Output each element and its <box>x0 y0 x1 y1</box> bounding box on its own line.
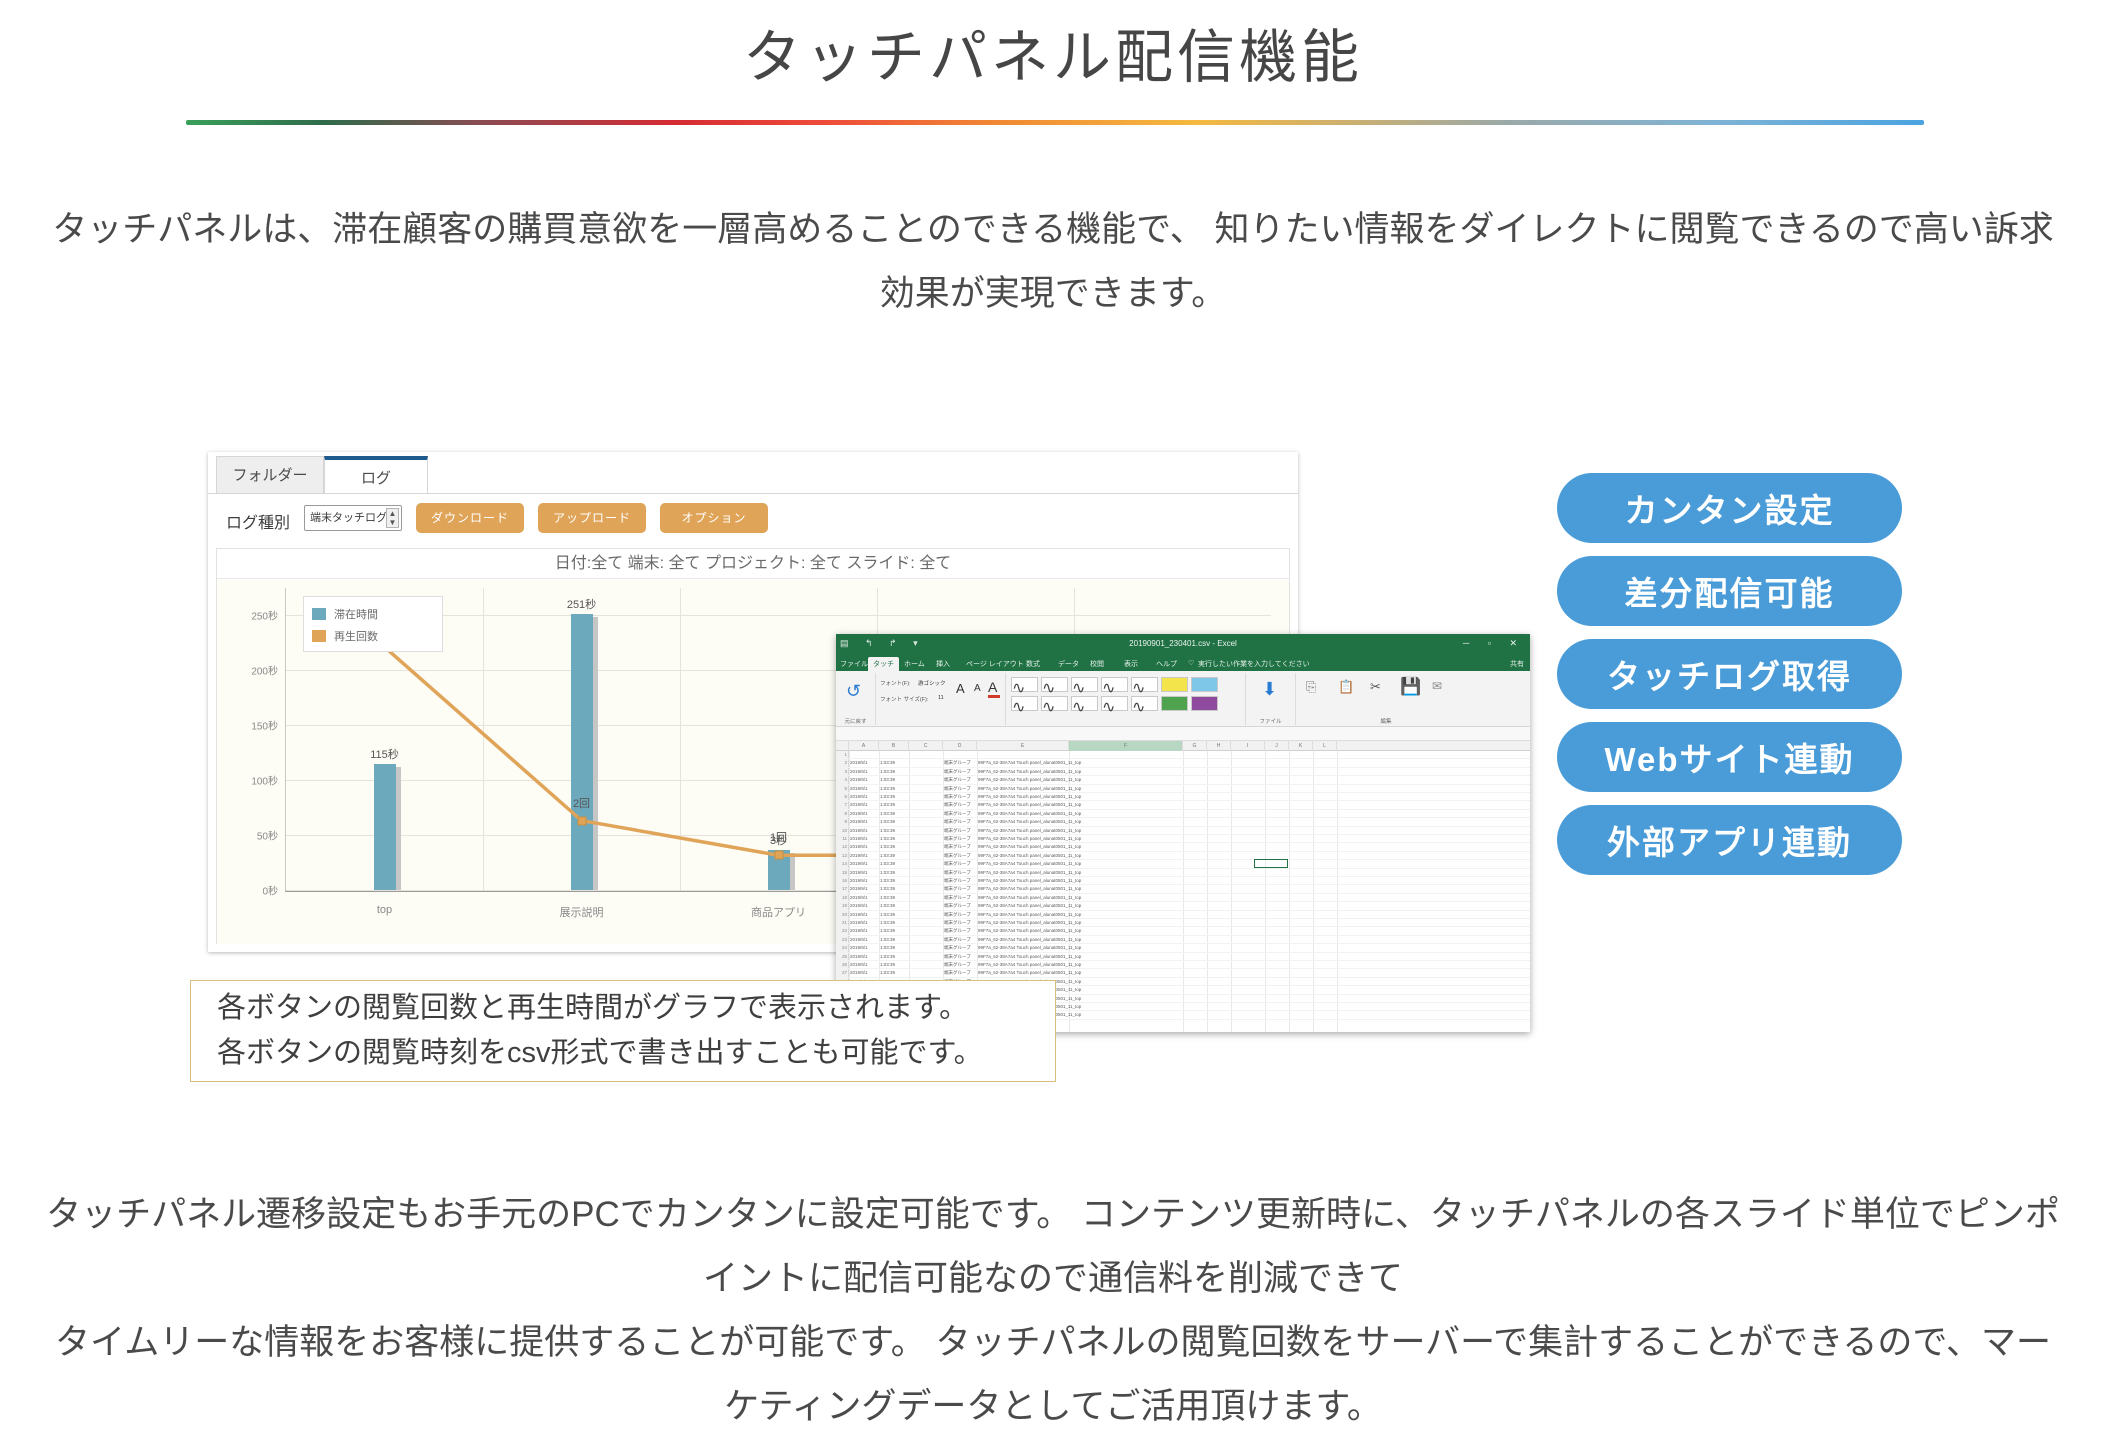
excel-cell[interactable]: 1:03:39 <box>880 793 910 800</box>
excel-cell[interactable]: 99F7a_62-38A7a4 Touch panel_alunat0501_1 <box>978 936 1070 943</box>
style-swatch-blue[interactable] <box>1191 677 1218 692</box>
excel-cell[interactable]: 1:03:39 <box>880 869 910 876</box>
excel-cell[interactable]: 1_top <box>1070 927 1184 934</box>
excel-cell[interactable] <box>910 810 944 817</box>
excel-cell[interactable]: 99F7a_62-38A7a4 Touch panel_alunat0501_1 <box>978 969 1070 976</box>
excel-cell[interactable]: 1_top <box>1070 785 1184 792</box>
excel-cell[interactable] <box>910 969 944 976</box>
email-icon[interactable]: ✉ <box>1432 679 1442 693</box>
stepper-icon[interactable]: ▲▼ <box>386 508 399 528</box>
excel-cell[interactable]: 99F7a_62-38A7a4 Touch panel_alunat0501_1 <box>978 869 1070 876</box>
excel-cell[interactable]: 2019/9/1 <box>850 835 880 842</box>
excel-cell[interactable]: 99F7a_62-38A7a4 Touch panel_alunat0501_1 <box>978 911 1070 918</box>
excel-row[interactable]: 1 <box>836 751 1530 759</box>
excel-column-header-H[interactable]: H <box>1207 741 1231 751</box>
copy-icon[interactable]: ⎘ <box>1306 679 1316 695</box>
excel-cell[interactable]: 端末グループ <box>944 877 978 884</box>
excel-cell[interactable]: 1:03:39 <box>880 810 910 817</box>
excel-tab-touch[interactable]: タッチ <box>868 657 899 671</box>
excel-window-controls[interactable]: ─ ▫ ✕ <box>1463 638 1525 649</box>
bottom-paragraph-1: タッチパネル遷移設定もお手元のPCでカンタンに設定可能です。 コンテンツ更新時に… <box>40 1183 2066 1311</box>
excel-cell[interactable]: 2019/9/1 <box>850 768 880 775</box>
excel-row-header[interactable]: 23 <box>836 936 849 943</box>
excel-cell[interactable]: 1_top <box>1070 986 1184 993</box>
ribbon-group-styles: ∿ ∿ ∿ ∿ ∿ ∿ ∿ ∿ ∿ ∿ <box>1006 673 1246 725</box>
excel-cell[interactable] <box>910 776 944 783</box>
excel-column-header-A[interactable]: A <box>849 741 879 751</box>
excel-cell[interactable] <box>910 902 944 909</box>
feature-pill-easy-setup[interactable]: カンタン設定 <box>1557 473 1902 543</box>
excel-row-header[interactable]: 8 <box>836 810 849 817</box>
excel-cell[interactable]: 2019/9/1 <box>850 902 880 909</box>
style-swatch-8[interactable]: ∿ <box>1011 696 1038 711</box>
download-arrow-icon[interactable]: ⬇ <box>1262 679 1277 700</box>
excel-cell[interactable]: 99F7a_62-38A7a4 Touch panel_alunat0501_1 <box>978 768 1070 775</box>
excel-cell[interactable]: 1:03:39 <box>880 827 910 834</box>
excel-cell[interactable] <box>910 894 944 901</box>
excel-row-header[interactable]: 26 <box>836 961 849 968</box>
excel-cell[interactable]: 端末グループ <box>944 827 978 834</box>
excel-cell[interactable]: 1_top <box>1070 894 1184 901</box>
excel-column-header-F[interactable]: F <box>1069 741 1183 751</box>
excel-cell[interactable]: 1:03:39 <box>880 894 910 901</box>
excel-row-header[interactable]: 1 <box>836 751 849 758</box>
excel-cell[interactable] <box>910 860 944 867</box>
excel-cell[interactable]: 1:03:39 <box>880 835 910 842</box>
download-button[interactable]: ダウンロード <box>416 503 524 533</box>
excel-cell[interactable]: 1_top <box>1070 953 1184 960</box>
excel-cell[interactable] <box>910 835 944 842</box>
excel-row-header[interactable]: 19 <box>836 902 849 909</box>
excel-cell[interactable]: 1_top <box>1070 801 1184 808</box>
excel-row[interactable]: 202019/9/11:03:39端末グループ99F7a_62-38A7a4 T… <box>836 911 1530 919</box>
excel-cell[interactable]: 99F7a_62-38A7a4 Touch panel_alunat0501_1 <box>978 894 1070 901</box>
excel-row-header[interactable]: 24 <box>836 944 849 951</box>
ribbon-group-undo-label: 元に戻す <box>836 717 875 725</box>
excel-column-header-D[interactable]: D <box>943 741 977 751</box>
excel-row[interactable]: 192019/9/11:03:39端末グループ99F7a_62-38A7a4 T… <box>836 902 1530 910</box>
excel-row-header[interactable]: 16 <box>836 877 849 884</box>
excel-row[interactable]: 72019/9/11:03:39端末グループ99F7a_62-38A7a4 To… <box>836 801 1530 809</box>
excel-cell[interactable]: 端末グループ <box>944 852 978 859</box>
excel-cell[interactable]: 端末グループ <box>944 927 978 934</box>
excel-cell[interactable]: 1_top <box>1070 843 1184 850</box>
excel-row[interactable]: 92019/9/11:03:39端末グループ99F7a_62-38A7a4 To… <box>836 818 1530 826</box>
feature-pill-touch-log[interactable]: タッチログ取得 <box>1557 639 1902 709</box>
excel-row[interactable]: 232019/9/11:03:39端末グループ99F7a_62-38A7a4 T… <box>836 936 1530 944</box>
excel-cell[interactable]: 2019/9/1 <box>850 911 880 918</box>
undo-icon[interactable]: ↺ <box>846 681 861 702</box>
log-type-select[interactable]: 端末タッチログ ▲▼ <box>304 505 402 531</box>
excel-cell[interactable]: 1:03:39 <box>880 927 910 934</box>
style-swatch-9[interactable]: ∿ <box>1041 696 1068 711</box>
excel-cell[interactable]: 1_top <box>1070 827 1184 834</box>
excel-cell[interactable]: 1_top <box>1070 885 1184 892</box>
excel-column-header-K[interactable]: K <box>1289 741 1313 751</box>
excel-row-header[interactable]: 5 <box>836 785 849 792</box>
excel-cell[interactable]: 2019/9/1 <box>850 944 880 951</box>
excel-cell[interactable]: 2019/9/1 <box>850 801 880 808</box>
style-swatch-green[interactable] <box>1161 696 1188 711</box>
excel-cell[interactable]: 1_top <box>1070 969 1184 976</box>
style-swatch-5[interactable]: ∿ <box>1131 677 1158 692</box>
style-swatch-1[interactable]: ∿ <box>1011 677 1038 692</box>
excel-cell[interactable]: 1_top <box>1070 995 1184 1002</box>
excel-share-button[interactable]: 共有 <box>1510 659 1524 669</box>
ribbon-group-font: フォント(F): 游ゴシック フォント サイズ(F): 11 A A A <box>876 673 1006 725</box>
font-size-label: フォント サイズ(F): <box>880 695 928 703</box>
lead-paragraph: タッチパネルは、滞在顧客の購買意欲を一層高めることのできる機能で、 知りたい情報… <box>40 198 2066 326</box>
excel-cell[interactable]: 1_top <box>1070 877 1184 884</box>
excel-cell[interactable]: 99F7a_62-38A7a4 Touch panel_alunat0501_1 <box>978 818 1070 825</box>
excel-cell[interactable] <box>910 869 944 876</box>
chart-y-tick: 250秒 <box>251 608 278 623</box>
excel-cell[interactable]: 1:03:39 <box>880 768 910 775</box>
style-swatch-2[interactable]: ∿ <box>1041 677 1068 692</box>
excel-cell[interactable]: 端末グループ <box>944 759 978 766</box>
excel-tab-formulas[interactable]: 数式 <box>1026 659 1040 669</box>
excel-cell[interactable]: 99F7a_62-38A7a4 Touch panel_alunat0501_1 <box>978 801 1070 808</box>
excel-cell[interactable] <box>910 927 944 934</box>
page-title: タッチパネル配信機能 <box>0 10 2106 94</box>
style-swatch-12[interactable]: ∿ <box>1131 696 1158 711</box>
excel-cell[interactable] <box>910 768 944 775</box>
excel-row-header[interactable]: 22 <box>836 927 849 934</box>
chart-y-tick: 150秒 <box>251 718 278 733</box>
excel-cell[interactable]: 端末グループ <box>944 793 978 800</box>
excel-cell[interactable]: 1:03:39 <box>880 936 910 943</box>
excel-cell[interactable]: 2019/9/1 <box>850 953 880 960</box>
excel-cell[interactable]: 端末グループ <box>944 818 978 825</box>
excel-cell[interactable]: 1_top <box>1070 793 1184 800</box>
excel-row-header[interactable]: 18 <box>836 894 849 901</box>
excel-formula-bar[interactable] <box>836 727 1530 741</box>
excel-row[interactable]: 122019/9/11:03:39端末グループ99F7a_62-38A7a4 T… <box>836 843 1530 851</box>
excel-cell[interactable]: 2019/9/1 <box>850 936 880 943</box>
excel-row-header[interactable]: 3 <box>836 768 849 775</box>
excel-row[interactable]: 52019/9/11:03:39端末グループ99F7a_62-38A7a4 To… <box>836 785 1530 793</box>
excel-row[interactable]: 132019/9/11:03:39端末グループ99F7a_62-38A7a4 T… <box>836 852 1530 860</box>
excel-tab-review[interactable]: 校閲 <box>1090 659 1104 669</box>
style-swatch-4[interactable]: ∿ <box>1101 677 1128 692</box>
excel-cell[interactable]: 1:03:39 <box>880 969 910 976</box>
excel-cell[interactable] <box>910 911 944 918</box>
excel-row-header[interactable]: 2 <box>836 759 849 766</box>
excel-tab-view[interactable]: 表示 <box>1124 659 1138 669</box>
excel-cell[interactable]: 1_top <box>1070 1011 1184 1018</box>
excel-cell[interactable]: 1:03:39 <box>880 852 910 859</box>
log-type-select-value: 端末タッチログ <box>310 512 387 524</box>
excel-cell[interactable]: 2019/9/1 <box>850 793 880 800</box>
excel-cell[interactable] <box>910 885 944 892</box>
excel-cell[interactable]: 2019/9/1 <box>850 919 880 926</box>
excel-cell[interactable] <box>910 852 944 859</box>
excel-cell[interactable]: 端末グループ <box>944 801 978 808</box>
excel-cell[interactable]: 端末グループ <box>944 953 978 960</box>
excel-cell[interactable]: 2019/9/1 <box>850 894 880 901</box>
excel-cell[interactable]: 端末グループ <box>944 944 978 951</box>
excel-cell[interactable]: 99F7a_62-38A7a4 Touch panel_alunat0501_1 <box>978 810 1070 817</box>
excel-tab-data[interactable]: データ <box>1058 659 1079 669</box>
app-toolbar: ログ種別 端末タッチログ ▲▼ ダウンロード アップロード オプション <box>208 495 1298 545</box>
excel-cell[interactable]: 99F7a_62-38A7a4 Touch panel_alunat0501_1 <box>978 827 1070 834</box>
excel-cell[interactable]: 2019/9/1 <box>850 785 880 792</box>
excel-row-header[interactable]: 4 <box>836 776 849 783</box>
excel-cell[interactable]: 2019/9/1 <box>850 860 880 867</box>
excel-cell[interactable]: 2019/9/1 <box>850 969 880 976</box>
excel-cell[interactable]: 99F7a_62-38A7a4 Touch panel_alunat0501_1 <box>978 860 1070 867</box>
excel-row[interactable]: 32019/9/11:03:39端末グループ99F7a_62-38A7a4 To… <box>836 768 1530 776</box>
excel-cell[interactable]: 1_top <box>1070 776 1184 783</box>
excel-cell[interactable]: 端末グループ <box>944 894 978 901</box>
excel-cell[interactable] <box>910 785 944 792</box>
excel-cell[interactable]: 端末グループ <box>944 969 978 976</box>
excel-cell[interactable]: 1:03:39 <box>880 843 910 850</box>
excel-row[interactable]: 142019/9/11:03:39端末グループ99F7a_62-38A7a4 T… <box>836 860 1530 868</box>
excel-tell-me[interactable]: 実行したい作業を入力してください <box>1198 659 1310 669</box>
excel-cell[interactable]: 1_top <box>1070 978 1184 985</box>
excel-cell[interactable]: 1:03:39 <box>880 818 910 825</box>
excel-cell[interactable]: 1:03:39 <box>880 801 910 808</box>
excel-cell[interactable]: 99F7a_62-38A7a4 Touch panel_alunat0501_1 <box>978 793 1070 800</box>
cut-icon[interactable]: ✂ <box>1370 679 1381 695</box>
excel-cell[interactable]: 1_top <box>1070 944 1184 951</box>
excel-corner-cell[interactable] <box>836 741 849 751</box>
excel-cell[interactable]: 2019/9/1 <box>850 961 880 968</box>
excel-row-header[interactable]: 27 <box>836 969 849 976</box>
excel-cell[interactable]: 99F7a_62-38A7a4 Touch panel_alunat0501_1 <box>978 902 1070 909</box>
excel-tab-page-layout[interactable]: ページ レイアウト <box>966 659 1024 669</box>
excel-cell[interactable]: 99F7a_62-38A7a4 Touch panel_alunat0501_1 <box>978 944 1070 951</box>
excel-cell[interactable] <box>910 936 944 943</box>
excel-cell[interactable]: 2019/9/1 <box>850 877 880 884</box>
excel-cell[interactable]: 99F7a_62-38A7a4 Touch panel_alunat0501_1 <box>978 919 1070 926</box>
excel-column-header-I[interactable]: I <box>1231 741 1265 751</box>
excel-row[interactable]: 112019/9/11:03:39端末グループ99F7a_62-38A7a4 T… <box>836 835 1530 843</box>
excel-cell[interactable]: 端末グループ <box>944 869 978 876</box>
excel-row-header[interactable]: 11 <box>836 835 849 842</box>
excel-cell[interactable]: 1_top <box>1070 919 1184 926</box>
excel-cell[interactable]: 99F7a_62-38A7a4 Touch panel_alunat0501_1 <box>978 927 1070 934</box>
excel-row[interactable]: 102019/9/11:03:39端末グループ99F7a_62-38A7a4 T… <box>836 827 1530 835</box>
excel-cell[interactable]: 端末グループ <box>944 885 978 892</box>
ribbon-group-file-label: ファイル <box>1246 717 1295 725</box>
feature-pill-diff-delivery[interactable]: 差分配信可能 <box>1557 556 1902 626</box>
style-swatch-10[interactable]: ∿ <box>1071 696 1098 711</box>
excel-row-header[interactable]: 15 <box>836 869 849 876</box>
excel-cell[interactable]: 1_top <box>1070 911 1184 918</box>
excel-tab-file[interactable]: ファイル <box>840 659 868 669</box>
excel-cell[interactable]: 1:03:39 <box>880 919 910 926</box>
excel-cell[interactable] <box>910 961 944 968</box>
excel-row[interactable]: 272019/9/11:03:39端末グループ99F7a_62-38A7a4 T… <box>836 969 1530 977</box>
excel-row[interactable]: 162019/9/11:03:39端末グループ99F7a_62-38A7a4 T… <box>836 877 1530 885</box>
excel-cell[interactable] <box>910 843 944 850</box>
excel-cell[interactable]: 2019/9/1 <box>850 827 880 834</box>
excel-active-cell[interactable] <box>1254 859 1288 868</box>
excel-window: ▤ ↰ ↱ ▾ 20190901_230401.csv - Excel ─ ▫ … <box>836 634 1530 1032</box>
excel-tab-home[interactable]: ホーム <box>904 659 925 669</box>
excel-cell[interactable]: 端末グループ <box>944 810 978 817</box>
excel-cell[interactable]: 1:03:39 <box>880 877 910 884</box>
excel-row[interactable]: 62019/9/11:03:39端末グループ99F7a_62-38A7a4 To… <box>836 793 1530 801</box>
excel-cell[interactable]: 1_top <box>1070 1003 1184 1010</box>
excel-cell[interactable] <box>910 801 944 808</box>
excel-column-header-C[interactable]: C <box>909 741 943 751</box>
legend-swatch-orange <box>312 630 326 642</box>
excel-tab-help[interactable]: ヘルプ <box>1156 659 1177 669</box>
excel-cell[interactable]: 2019/9/1 <box>850 869 880 876</box>
excel-row-header[interactable]: 9 <box>836 818 849 825</box>
excel-row-header[interactable]: 6 <box>836 793 849 800</box>
excel-cell[interactable] <box>910 818 944 825</box>
excel-row[interactable]: 262019/9/11:03:39端末グループ99F7a_62-38A7a4 T… <box>836 961 1530 969</box>
excel-cell[interactable]: 2019/9/1 <box>850 810 880 817</box>
excel-row[interactable]: 242019/9/11:03:39端末グループ99F7a_62-38A7a4 T… <box>836 944 1530 952</box>
excel-cell[interactable]: 99F7a_62-38A7a4 Touch panel_alunat0501_1 <box>978 843 1070 850</box>
excel-cell[interactable]: 99F7a_62-38A7a4 Touch panel_alunat0501_1 <box>978 953 1070 960</box>
excel-column-header-E[interactable]: E <box>977 741 1069 751</box>
excel-tell-me-icon[interactable]: ♡ <box>1188 659 1194 667</box>
excel-column-header-J[interactable]: J <box>1265 741 1289 751</box>
excel-cell[interactable]: 1:03:39 <box>880 776 910 783</box>
paste-icon[interactable]: 📋 <box>1338 679 1354 695</box>
excel-cell[interactable]: 1_top <box>1070 860 1184 867</box>
excel-cell[interactable]: 端末グループ <box>944 919 978 926</box>
excel-tab-insert[interactable]: 挿入 <box>936 659 950 669</box>
excel-cell[interactable]: 99F7a_62-38A7a4 Touch panel_alunat0501_1 <box>978 835 1070 842</box>
excel-column-header-G[interactable]: G <box>1183 741 1207 751</box>
excel-cell[interactable]: 1_top <box>1070 852 1184 859</box>
style-swatch-3[interactable]: ∿ <box>1071 677 1098 692</box>
excel-cell[interactable]: 1_top <box>1070 810 1184 817</box>
legend-item-play-count: 再生回数 <box>312 625 434 647</box>
excel-cell[interactable]: 1_top <box>1070 902 1184 909</box>
excel-row-header[interactable]: 25 <box>836 953 849 960</box>
feature-pill-external-app[interactable]: 外部アプリ連動 <box>1557 805 1902 875</box>
excel-cell[interactable]: 1:03:39 <box>880 953 910 960</box>
excel-cell[interactable]: 2019/9/1 <box>850 818 880 825</box>
excel-cell[interactable]: 端末グループ <box>944 768 978 775</box>
excel-cell[interactable]: 99F7a_62-38A7a4 Touch panel_alunat0501_1 <box>978 877 1070 884</box>
excel-row-header[interactable]: 20 <box>836 911 849 918</box>
excel-cell[interactable]: 1:03:39 <box>880 961 910 968</box>
excel-cell[interactable]: 99F7a_62-38A7a4 Touch panel_alunat0501_1 <box>978 852 1070 859</box>
excel-row-header[interactable]: 12 <box>836 843 849 850</box>
excel-cell[interactable]: 端末グループ <box>944 835 978 842</box>
excel-row-header[interactable]: 10 <box>836 827 849 834</box>
excel-cell[interactable]: 2019/9/1 <box>850 759 880 766</box>
excel-cell[interactable]: 1:03:39 <box>880 785 910 792</box>
excel-cell[interactable]: 1:03:39 <box>880 944 910 951</box>
excel-cell[interactable]: 端末グループ <box>944 776 978 783</box>
style-swatch-purple[interactable] <box>1191 696 1218 711</box>
excel-cell[interactable]: 99F7a_62-38A7a4 Touch panel_alunat0501_1 <box>978 785 1070 792</box>
feature-pill-web-link[interactable]: Webサイト連動 <box>1557 722 1902 792</box>
excel-row[interactable]: 42019/9/11:03:39端末グループ99F7a_62-38A7a4 To… <box>836 776 1530 784</box>
excel-cell[interactable] <box>910 793 944 800</box>
excel-row-header[interactable]: 14 <box>836 860 849 867</box>
excel-row[interactable]: 212019/9/11:03:39端末グループ99F7a_62-38A7a4 T… <box>836 919 1530 927</box>
excel-cell[interactable] <box>910 759 944 766</box>
excel-cell[interactable]: 2019/9/1 <box>850 885 880 892</box>
excel-cell[interactable] <box>910 827 944 834</box>
excel-column-header-L[interactable]: L <box>1313 741 1337 751</box>
excel-row[interactable]: 222019/9/11:03:39端末グループ99F7a_62-38A7a4 T… <box>836 927 1530 935</box>
excel-cell[interactable]: 99F7a_62-38A7a4 Touch panel_alunat0501_1 <box>978 885 1070 892</box>
excel-cell[interactable]: 1_top <box>1070 818 1184 825</box>
excel-cell[interactable]: 1_top <box>1070 768 1184 775</box>
excel-cell[interactable] <box>910 919 944 926</box>
excel-cell[interactable] <box>910 944 944 951</box>
font-size-value[interactable]: 11 <box>938 695 944 701</box>
excel-row[interactable]: 252019/9/11:03:39端末グループ99F7a_62-38A7a4 T… <box>836 953 1530 961</box>
excel-cell[interactable]: 1:03:39 <box>880 860 910 867</box>
excel-row[interactable]: 22019/9/11:03:39端末グループ99F7a_62-38A7a4 To… <box>836 759 1530 767</box>
increase-font-icon[interactable]: A <box>956 681 965 696</box>
tab-log[interactable]: ログ <box>324 456 428 494</box>
style-swatch-11[interactable]: ∿ <box>1101 696 1128 711</box>
excel-column-headers: ABCDEFGHIJKL <box>836 741 1530 751</box>
decrease-font-icon[interactable]: A <box>974 683 981 694</box>
excel-row-header[interactable]: 21 <box>836 919 849 926</box>
excel-cell[interactable]: 1_top <box>1070 961 1184 968</box>
excel-cell[interactable]: 99F7a_62-38A7a4 Touch panel_alunat0501_1 <box>978 776 1070 783</box>
excel-cell[interactable]: 端末グループ <box>944 843 978 850</box>
font-value[interactable]: 游ゴシック <box>918 679 946 687</box>
excel-row[interactable]: 172019/9/11:03:39端末グループ99F7a_62-38A7a4 T… <box>836 885 1530 893</box>
excel-cell[interactable]: 2019/9/1 <box>850 927 880 934</box>
excel-cell[interactable]: 端末グループ <box>944 785 978 792</box>
save-icon[interactable]: 💾 <box>1400 677 1421 697</box>
excel-row[interactable]: 182019/9/11:03:39端末グループ99F7a_62-38A7a4 T… <box>836 894 1530 902</box>
font-color-icon[interactable]: A <box>988 679 997 695</box>
excel-cell[interactable]: 99F7a_62-38A7a4 Touch panel_alunat0501_1 <box>978 961 1070 968</box>
excel-row-header[interactable]: 17 <box>836 885 849 892</box>
excel-cell[interactable]: 1:03:39 <box>880 885 910 892</box>
excel-cell[interactable]: 1_top <box>1070 759 1184 766</box>
excel-cell[interactable]: 99F7a_62-38A7a4 Touch panel_alunat0501_1 <box>978 759 1070 766</box>
legend-swatch-teal <box>312 608 326 620</box>
excel-row[interactable]: 152019/9/11:03:39端末グループ99F7a_62-38A7a4 T… <box>836 869 1530 877</box>
excel-row[interactable]: 82019/9/11:03:39端末グループ99F7a_62-38A7a4 To… <box>836 810 1530 818</box>
excel-column-header-B[interactable]: B <box>879 741 909 751</box>
excel-cell[interactable]: 2019/9/1 <box>850 852 880 859</box>
excel-cell[interactable]: 1_top <box>1070 869 1184 876</box>
excel-cell[interactable]: 端末グループ <box>944 860 978 867</box>
style-swatch-yellow[interactable] <box>1161 677 1188 692</box>
excel-cell[interactable]: 端末グループ <box>944 961 978 968</box>
excel-cell[interactable]: 1:03:39 <box>880 902 910 909</box>
excel-cell[interactable]: 端末グループ <box>944 936 978 943</box>
excel-cell[interactable]: 2019/9/1 <box>850 843 880 850</box>
excel-cell[interactable]: 1:03:39 <box>880 911 910 918</box>
excel-cell[interactable]: 端末グループ <box>944 911 978 918</box>
excel-cell[interactable]: 1:03:39 <box>880 759 910 766</box>
excel-row-header[interactable]: 13 <box>836 852 849 859</box>
excel-cell[interactable]: 1_top <box>1070 936 1184 943</box>
excel-cell[interactable]: 端末グループ <box>944 902 978 909</box>
excel-cell[interactable]: 1_top <box>1070 835 1184 842</box>
excel-cell[interactable] <box>910 953 944 960</box>
excel-ribbon: ↺ 元に戻す フォント(F): 游ゴシック フォント サイズ(F): 11 A … <box>836 671 1530 727</box>
tab-folder[interactable]: フォルダー <box>216 456 324 494</box>
upload-button[interactable]: アップロード <box>538 503 646 533</box>
option-button[interactable]: オプション <box>660 503 768 533</box>
excel-cell[interactable]: 2019/9/1 <box>850 776 880 783</box>
excel-row-header[interactable]: 7 <box>836 801 849 808</box>
excel-cell[interactable] <box>910 877 944 884</box>
